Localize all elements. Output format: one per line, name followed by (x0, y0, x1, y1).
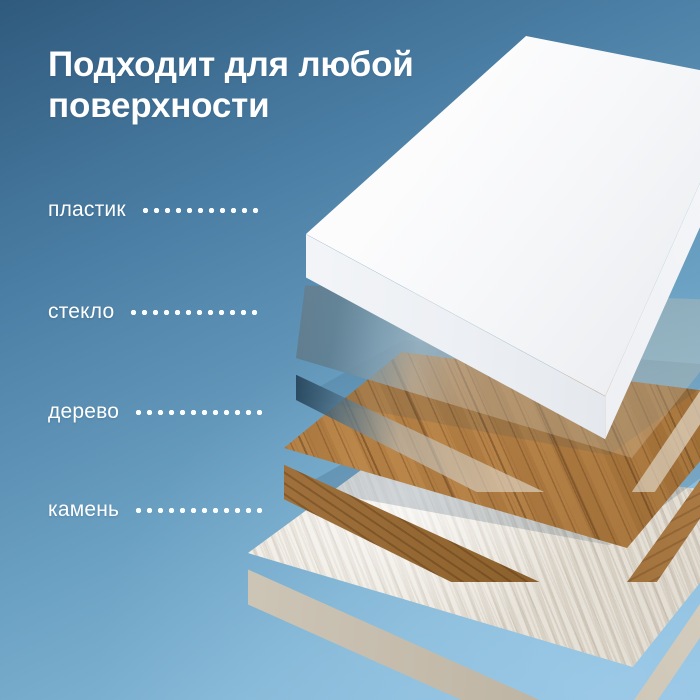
leader-dots-plastic (140, 208, 260, 213)
legend-label-plastic: пластик (48, 198, 126, 222)
legend-label-wood: дерево (48, 400, 119, 424)
legend-item-glass: стекло (48, 298, 260, 326)
leader-dots-glass (128, 310, 260, 315)
legend-item-wood: дерево (48, 398, 265, 426)
legend-label-glass: стекло (48, 300, 114, 324)
legend-item-stone: камень (48, 496, 265, 524)
legend-label-stone: камень (48, 498, 119, 522)
leader-dots-wood (133, 410, 265, 415)
promo-banner: Подходит для любой поверхности пластик с… (0, 0, 700, 700)
legend-item-plastic: пластик (48, 196, 260, 224)
material-legend: пластик стекло дерево камень (0, 0, 340, 700)
leader-dots-stone (133, 508, 265, 513)
